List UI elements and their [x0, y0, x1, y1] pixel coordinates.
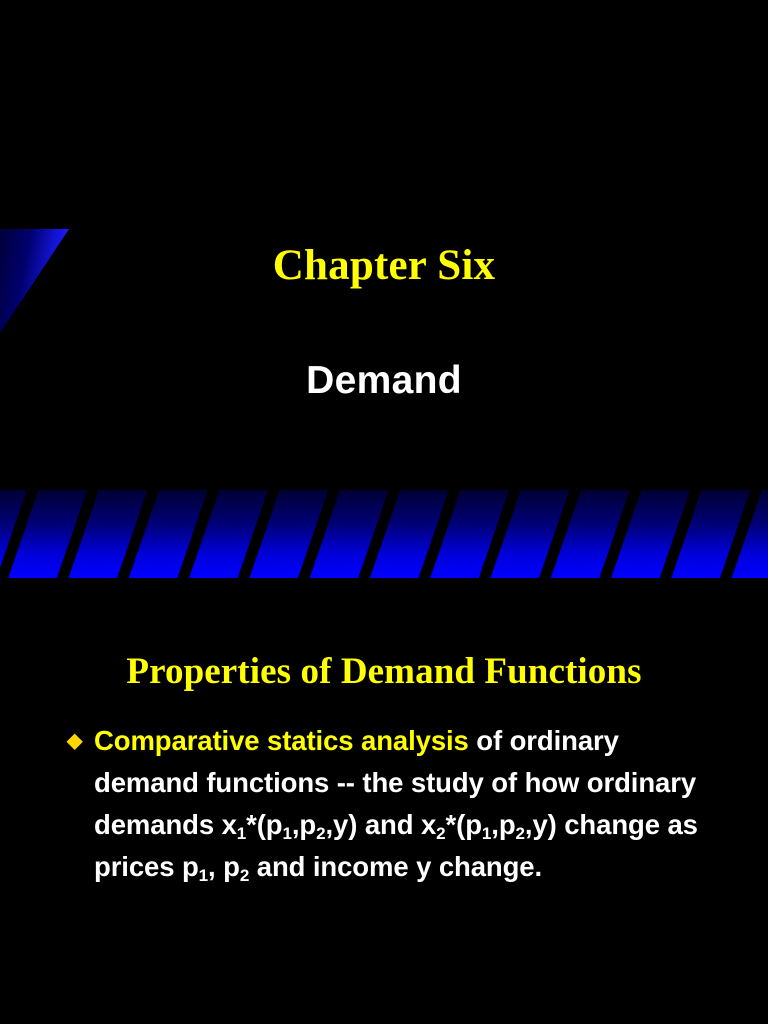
subscript-3: 2 — [316, 824, 325, 843]
content-slide: Properties of Demand Functions ◆Comparat… — [0, 578, 768, 1024]
stripe-mask-layer — [0, 490, 768, 578]
subscript-2: 1 — [283, 824, 292, 843]
bullet-list: ◆Comparative statics analysis of ordinar… — [66, 720, 716, 888]
subscript-4: 2 — [436, 824, 445, 843]
subscript-5: 1 — [482, 824, 491, 843]
bullet-text-8: , p — [208, 851, 240, 882]
page-subtitle: Demand — [0, 361, 768, 402]
bullet-text-2: *(p — [246, 809, 282, 840]
subscript-8: 2 — [240, 866, 249, 885]
bullet-highlight-text: Comparative statics analysis — [94, 725, 469, 756]
diagonal-stripe-band-icon — [0, 490, 768, 578]
bullet-text-5: *(p — [446, 809, 482, 840]
bullet-text-3: ,p — [292, 809, 316, 840]
bullet-text-9: and income y change. — [249, 851, 542, 882]
page-title: Chapter Six — [0, 243, 768, 288]
diamond-bullet-icon: ◆ — [67, 720, 82, 762]
subscript-7: 1 — [199, 866, 208, 885]
bullet-text-6: ,p — [491, 809, 515, 840]
subscript-6: 2 — [516, 824, 525, 843]
title-slide: Chapter Six Demand — [0, 0, 768, 490]
bullet-text-4: ,y) and x — [326, 809, 437, 840]
slide-page: Chapter Six Demand Properties of Demand … — [0, 0, 768, 1024]
list-item: ◆Comparative statics analysis of ordinar… — [66, 720, 716, 888]
content-heading: Properties of Demand Functions — [0, 653, 768, 692]
subscript-1: 1 — [237, 824, 246, 843]
